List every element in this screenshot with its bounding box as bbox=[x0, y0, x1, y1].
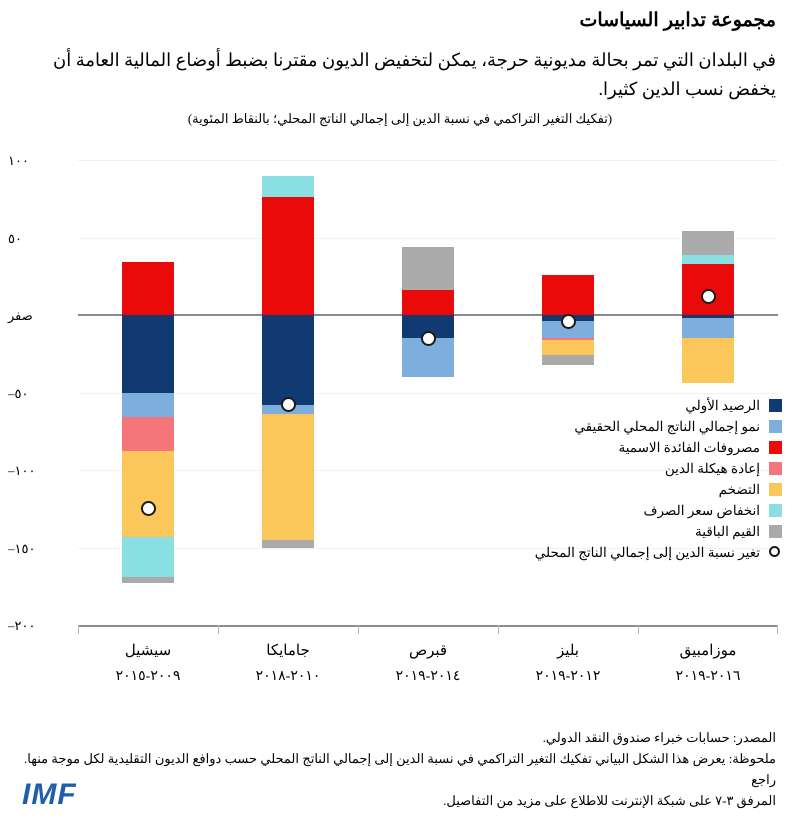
legend-swatch-icon bbox=[769, 441, 782, 454]
legend-label: نمو إجمالي الناتج المحلي الحقيقي bbox=[574, 419, 760, 435]
chart-page: مجموعة تدابير السياسات في البلدان التي ت… bbox=[0, 0, 800, 818]
x-axis-label-1: جامايكا٢٠١٠-٢٠١٨ bbox=[218, 639, 358, 689]
x-axis-label-3: بليز٢٠١٢-٢٠١٩ bbox=[498, 639, 638, 689]
chart-subtitle: في البلدان التي تمر بحالة مديونية حرجة، … bbox=[24, 46, 776, 104]
x-axis-tick bbox=[218, 625, 219, 634]
legend-label: تغير نسبة الدين إلى إجمالي الناتج المحلي bbox=[535, 545, 760, 561]
bar-segment-debt_restructuring[interactable] bbox=[122, 417, 174, 451]
bar-segment-residual[interactable] bbox=[402, 247, 454, 290]
debt-ratio-change-marker[interactable] bbox=[421, 331, 436, 346]
country-name: قبرص bbox=[358, 639, 498, 664]
legend-swatch-icon bbox=[769, 399, 782, 412]
country-period: ٢٠١٤-٢٠١٩ bbox=[358, 664, 498, 689]
legend-swatch-icon bbox=[769, 525, 782, 538]
figure-note: ملحوظة: يعرض هذا الشكل البياني تفكيك الت… bbox=[24, 748, 776, 811]
legend-label: مصروفات الفائدة الاسمية bbox=[618, 440, 760, 456]
bar-group[interactable] bbox=[262, 160, 314, 625]
bar-segment-residual[interactable] bbox=[122, 577, 174, 583]
debt-ratio-change-marker[interactable] bbox=[141, 501, 156, 516]
bar-segment-inflation[interactable] bbox=[542, 340, 594, 356]
bar-segment-nominal_interest[interactable] bbox=[122, 262, 174, 315]
x-axis-tick bbox=[777, 625, 778, 634]
page-title: مجموعة تدابير السياسات bbox=[24, 8, 776, 34]
bar-segment-real_gdp_growth[interactable] bbox=[122, 393, 174, 418]
bar-group[interactable] bbox=[402, 160, 454, 625]
bar-segment-primary_balance[interactable] bbox=[122, 315, 174, 393]
bar-segment-inflation[interactable] bbox=[262, 414, 314, 540]
bar-segment-nominal_interest[interactable] bbox=[262, 197, 314, 315]
legend-item-inflation[interactable]: التضخم bbox=[535, 479, 782, 500]
x-axis-tick bbox=[498, 625, 499, 634]
country-name: سيشيل bbox=[78, 639, 218, 664]
country-period: ٢٠٠٩-٢٠١٥ bbox=[78, 664, 218, 689]
x-axis-tick bbox=[638, 625, 639, 634]
y-axis-tick-label: ٥٠ bbox=[8, 238, 78, 251]
x-axis-label-4: موزامبيق٢٠١٦-٢٠١٩ bbox=[638, 639, 778, 689]
country-period: ٢٠١٦-٢٠١٩ bbox=[638, 664, 778, 689]
x-axis-tick bbox=[358, 625, 359, 634]
legend-item-depreciation[interactable]: انخفاض سعر الصرف bbox=[535, 500, 782, 521]
legend-item-primary_balance[interactable]: الرصيد الأولي bbox=[535, 395, 782, 416]
debt-ratio-change-marker[interactable] bbox=[701, 289, 716, 304]
legend-label: التضخم bbox=[719, 482, 760, 498]
imf-logo: IMF bbox=[22, 778, 77, 812]
legend-marker-icon bbox=[769, 546, 782, 559]
bar-segment-residual[interactable] bbox=[542, 355, 594, 364]
legend-item-debt_ratio_change[interactable]: تغير نسبة الدين إلى إجمالي الناتج المحلي bbox=[535, 542, 782, 563]
bar-segment-nominal_interest[interactable] bbox=[402, 290, 454, 315]
legend-label: الرصيد الأولي bbox=[685, 398, 760, 414]
country-name: بليز bbox=[498, 639, 638, 664]
x-axis-tick bbox=[78, 625, 79, 634]
legend-item-debt_restructuring[interactable]: إعادة هيكلة الدين bbox=[535, 458, 782, 479]
legend-swatch-icon bbox=[769, 462, 782, 475]
bar-segment-depreciation[interactable] bbox=[262, 176, 314, 198]
country-period: ٢٠١٢-٢٠١٩ bbox=[498, 664, 638, 689]
bar-segment-depreciation[interactable] bbox=[682, 255, 734, 264]
x-axis-label-2: قبرص٢٠١٤-٢٠١٩ bbox=[358, 639, 498, 689]
figure-note-line-1: ملحوظة: يعرض هذا الشكل البياني تفكيك الت… bbox=[24, 751, 776, 787]
legend-label: القيم الباقية bbox=[695, 524, 760, 540]
figure-note-line-2: المرفق ٣-٧ على شبكة الإنترنت للاطلاع على… bbox=[24, 790, 776, 811]
bar-segment-residual[interactable] bbox=[682, 231, 734, 254]
x-axis: سيشيل٢٠٠٩-٢٠١٥جامايكا٢٠١٠-٢٠١٨قبرص٢٠١٤-٢… bbox=[78, 625, 778, 720]
chart-units-label: (تفكيك التغير التراكمي في نسبة الدين إلى… bbox=[24, 110, 776, 128]
y-axis-tick-label: ٥٠– bbox=[8, 393, 78, 406]
debt-ratio-change-marker[interactable] bbox=[561, 314, 576, 329]
bar-segment-primary_balance[interactable] bbox=[262, 315, 314, 405]
chart-legend: الرصيد الأولينمو إجمالي الناتج المحلي ال… bbox=[535, 395, 782, 563]
debt-ratio-change-marker[interactable] bbox=[281, 397, 296, 412]
legend-item-residual[interactable]: القيم الباقية bbox=[535, 521, 782, 542]
y-axis-tick-label: ١٥٠– bbox=[8, 548, 78, 561]
bar-segment-real_gdp_growth[interactable] bbox=[682, 318, 734, 338]
legend-item-nominal_interest[interactable]: مصروفات الفائدة الاسمية bbox=[535, 437, 782, 458]
bar-segment-nominal_interest[interactable] bbox=[542, 275, 594, 315]
legend-item-real_gdp_growth[interactable]: نمو إجمالي الناتج المحلي الحقيقي bbox=[535, 416, 782, 437]
bar-segment-depreciation[interactable] bbox=[122, 537, 174, 577]
bar-group[interactable] bbox=[122, 160, 174, 625]
legend-swatch-icon bbox=[769, 420, 782, 433]
legend-label: إعادة هيكلة الدين bbox=[665, 461, 760, 477]
y-axis-tick-label: ١٠٠ bbox=[8, 160, 78, 173]
country-name: موزامبيق bbox=[638, 639, 778, 664]
source-note: المصدر: حسابات خبراء صندوق النقد الدولي. bbox=[24, 728, 776, 747]
legend-label: انخفاض سعر الصرف bbox=[643, 503, 760, 519]
legend-swatch-icon bbox=[769, 504, 782, 517]
legend-swatch-icon bbox=[769, 483, 782, 496]
country-period: ٢٠١٠-٢٠١٨ bbox=[218, 664, 358, 689]
x-axis-label-0: سيشيل٢٠٠٩-٢٠١٥ bbox=[78, 639, 218, 689]
bar-segment-inflation[interactable] bbox=[122, 451, 174, 536]
bar-segment-inflation[interactable] bbox=[682, 338, 734, 383]
y-axis-tick-label: ١٠٠– bbox=[8, 470, 78, 483]
bar-segment-residual[interactable] bbox=[262, 540, 314, 548]
country-name: جامايكا bbox=[218, 639, 358, 664]
y-axis-tick-label: ٢٠٠– bbox=[8, 625, 78, 638]
y-axis-tick-label: صفر bbox=[8, 315, 78, 328]
